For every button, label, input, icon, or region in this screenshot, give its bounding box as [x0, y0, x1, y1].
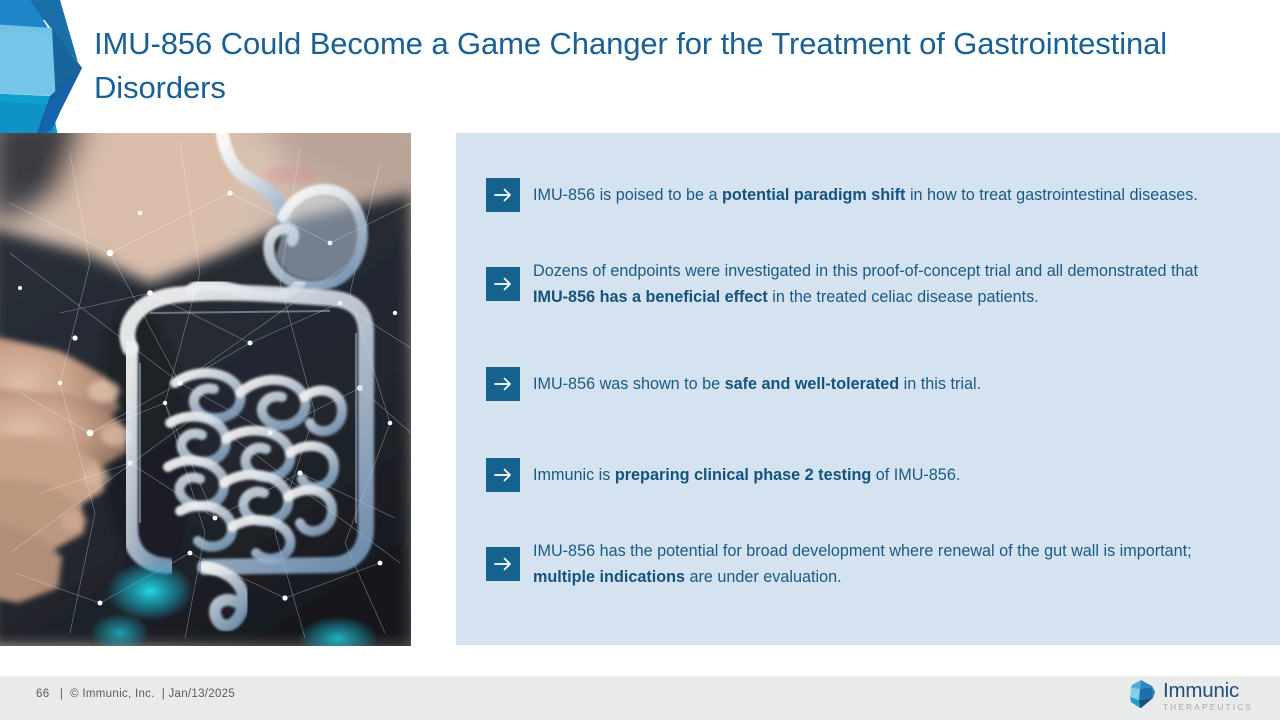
immunic-logo-name: Immunic [1163, 681, 1253, 702]
gastrointestinal-hologram-photo [0, 133, 411, 646]
page-title: IMU-856 Could Become a Game Changer for … [94, 22, 1214, 110]
footer-meta-text: 66 | © Immunic, Inc. | Jan/13/2025 [36, 688, 235, 700]
bullet-text-2: Dozens of endpoints were investigated in… [533, 258, 1226, 310]
immunic-logo-wordmark: Immunic THERAPEUTICS [1163, 681, 1253, 712]
arrow-right-icon [486, 267, 520, 301]
bullet-item-3: IMU-856 was shown to be safe and well-to… [486, 367, 1216, 401]
arrow-right-icon [486, 367, 520, 401]
arrow-right-icon [486, 178, 520, 212]
bullet-text-5: IMU-856 has the potential for broad deve… [533, 538, 1246, 590]
immunic-diamond-logo-icon [1128, 679, 1156, 714]
decorative-diamond-graphic [0, 0, 92, 136]
bullet-item-5: IMU-856 has the potential for broad deve… [486, 538, 1246, 590]
bullet-item-4: Immunic is preparing clinical phase 2 te… [486, 458, 1216, 492]
bullet-item-2: Dozens of endpoints were investigated in… [486, 258, 1226, 310]
arrow-right-icon [486, 458, 520, 492]
page-title-container: IMU-856 Could Become a Game Changer for … [94, 22, 1214, 110]
arrow-right-icon [486, 547, 520, 581]
bullet-text-1: IMU-856 is poised to be a potential para… [533, 182, 1198, 208]
immunic-logo: Immunic THERAPEUTICS [1128, 679, 1253, 714]
bullet-text-3: IMU-856 was shown to be safe and well-to… [533, 371, 981, 397]
key-takeaways-panel: IMU-856 is poised to be a potential para… [456, 133, 1280, 645]
immunic-logo-tagline: THERAPEUTICS [1163, 704, 1253, 712]
bullet-item-1: IMU-856 is poised to be a potential para… [486, 178, 1216, 212]
bullet-text-4: Immunic is preparing clinical phase 2 te… [533, 462, 960, 488]
